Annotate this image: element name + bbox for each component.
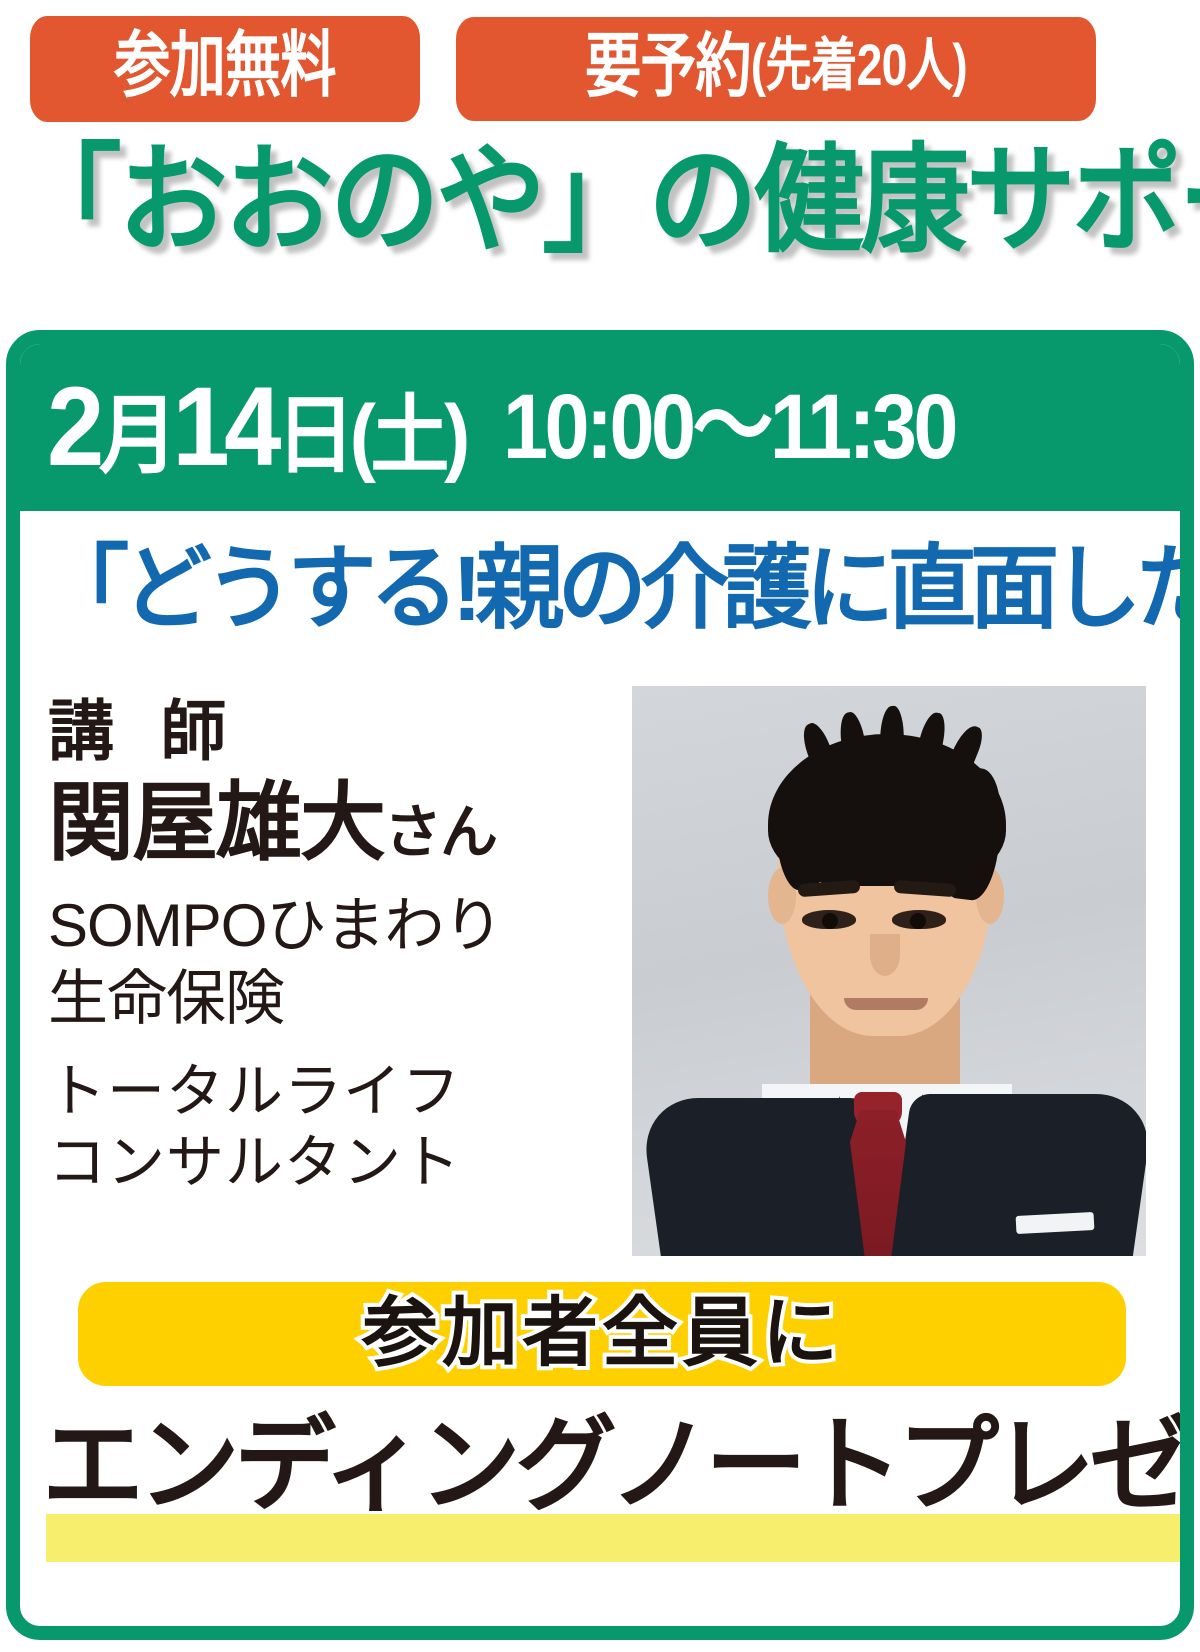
badge-free: 参加無料 [30, 16, 420, 122]
date-text: 2月14日(土) [47, 371, 465, 483]
date-day-kanji: 日 [276, 388, 350, 484]
badge-reservation: 要予約(先着20人) [456, 17, 1096, 121]
badge-free-wrapper: 参加無料 [30, 16, 430, 122]
photo-lapel-right [922, 1094, 984, 1246]
photo-lapel-left [782, 1096, 840, 1246]
date-month-number: 2 [47, 364, 99, 489]
date-time-band: 2月14日(土) 10:00〜11:30 [19, 343, 1181, 511]
lecturer-name-honorific: さん [384, 800, 496, 865]
lecturer-role-line1: トータルライフ [48, 1057, 608, 1128]
badge-reservation-wrapper: 要予約(先着20人) [456, 17, 1200, 121]
date-weekday: (土) [350, 388, 465, 484]
lecturer-affiliation-line2: 生命保険 [48, 962, 608, 1035]
gift-present-row: エンディングノートプレゼント [20, 1406, 1182, 1596]
gift-banner-text: 参加者全員に [362, 1296, 842, 1372]
lecturer-name: 関屋雄大さん [48, 772, 608, 875]
gift-present-text: エンディングノートプレゼント [42, 1414, 1159, 1518]
photo-pupil-right [910, 913, 926, 929]
event-time: 10:00〜11:30 [503, 381, 955, 473]
lecturer-block: 講 師 関屋雄大さん SOMPOひまわり 生命保険 トータルライフ コンサルタン… [48, 694, 608, 1199]
badge-row: 参加無料 要予約(先着20人) [30, 16, 1200, 122]
content-frame: 2月14日(土) 10:00〜11:30 「どうする!親の介護に直面した時」 講… [6, 330, 1194, 1640]
seminar-title: 「どうする!親の介護に直面した時」 [40, 539, 1146, 640]
badge-reservation-main: 要予約 [585, 31, 751, 101]
photo-mouth [844, 998, 928, 1010]
lecturer-role: トータルライフ コンサルタント [48, 1057, 608, 1199]
badge-reservation-capacity: (先着20人) [751, 37, 967, 95]
lecturer-photo [632, 686, 1146, 1256]
photo-pupil-left [822, 913, 838, 929]
date-month-kanji: 月 [99, 388, 173, 484]
page-title: 「おおのや」の健康サポート [12, 140, 1109, 264]
lecturer-label: 講 師 [48, 694, 608, 770]
lecturer-affiliation-line1: SOMPOひまわり [48, 889, 608, 962]
lecturer-name-text: 関屋雄大 [48, 775, 384, 871]
lecturer-affiliation: SOMPOひまわり 生命保険 [48, 889, 608, 1035]
gift-banner: 参加者全員に [78, 1282, 1126, 1386]
event-poster: 参加無料 要予約(先着20人) 「おおのや」の健康サポート 2月14日(土) 1… [0, 0, 1200, 1652]
lecturer-role-line2: コンサルタント [48, 1128, 608, 1199]
date-day-number: 14 [172, 364, 276, 489]
photo-nose [870, 934, 900, 976]
photo-suit-left [639, 1098, 892, 1256]
